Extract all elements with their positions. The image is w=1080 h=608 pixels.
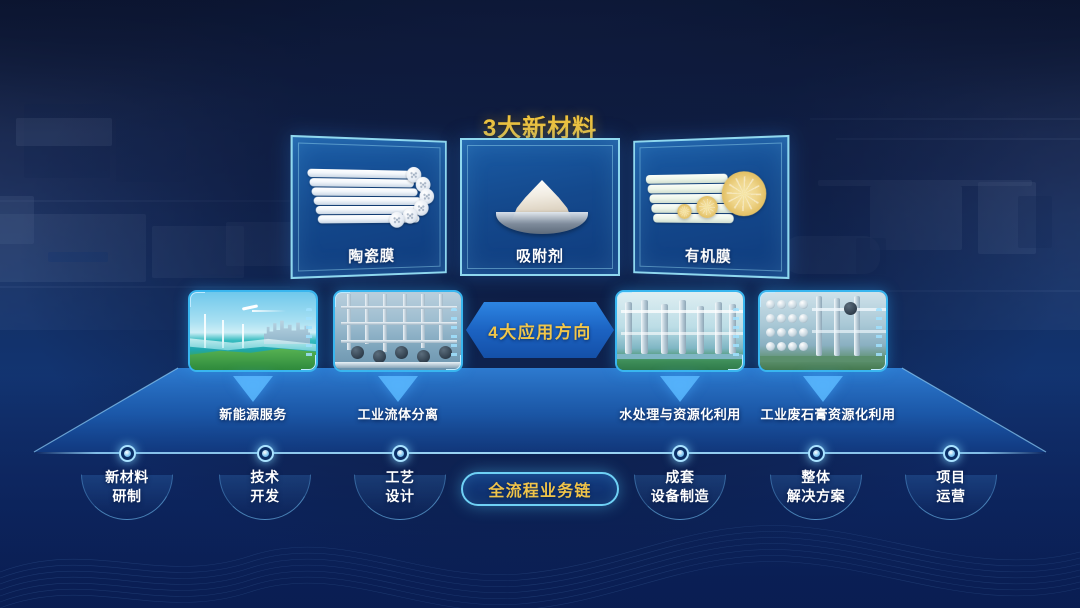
chain-step-3-line1: 工艺 [325,468,475,487]
new-energy-landscape-icon [190,292,316,370]
water-treatment-racks-icon [617,292,743,370]
application-thumb-gypsum[interactable] [758,290,888,372]
application-thumb-water-treatment[interactable] [615,290,745,372]
chain-step-2-line2: 开发 [190,487,340,506]
thumb-corner-accent [616,291,632,307]
background-factory-photo-left [0,0,320,330]
chain-step-4[interactable]: 成套 设备制造 [605,468,755,506]
chain-step-4-line2: 设备制造 [605,487,755,506]
material-label-adsorbent: 吸附剂 [462,245,618,266]
application-label-industrial-fluid: 工业流体分离 [323,404,473,423]
thumb-tick-marks [733,308,739,358]
materials-panel-group: 陶瓷膜 吸附剂 有机膜 [292,138,788,278]
connector-arrow-down [233,376,273,402]
chain-node-2[interactable] [257,445,274,462]
industrial-piping-icon [335,292,461,370]
connector-arrow-down [378,376,418,402]
chain-node-3[interactable] [392,445,409,462]
thumb-tick-marks [306,308,312,358]
chain-step-6-line2: 运营 [876,487,1026,506]
application-label-gypsum: 工业废石膏资源化利用 [748,404,908,423]
application-label-new-energy: 新能源服务 [178,404,328,423]
applications-section-badge: 4大应用方向 [466,302,614,358]
chain-node-4[interactable] [672,445,689,462]
chain-step-1[interactable]: 新材料 研制 [52,468,202,506]
chain-step-5-line2: 解决方案 [741,487,891,506]
background-factory-photo-right [770,0,1080,330]
organic-membrane-spiral-icon [646,169,779,235]
material-panel-organic-membrane[interactable]: 有机膜 [633,135,789,279]
chain-step-4-line1: 成套 [605,468,755,487]
chain-step-6[interactable]: 项目 运营 [876,468,1026,506]
chain-step-5-line1: 整体 [741,468,891,487]
chain-step-2[interactable]: 技术 开发 [190,468,340,506]
chain-step-6-line1: 项目 [876,468,1026,487]
ceramic-membrane-rods-icon [307,167,436,235]
thumb-corner-accent [189,291,205,307]
chain-node-6[interactable] [943,445,960,462]
chain-step-3-line2: 设计 [325,487,475,506]
gypsum-plant-icon [760,292,886,370]
application-label-water-treatment: 水处理与资源化利用 [605,404,755,423]
infographic-canvas: 3大新材料 陶瓷膜 [0,0,1080,608]
business-chain-pill[interactable]: 全流程业务链 [461,472,619,506]
business-chain-line [36,452,1044,454]
wave-decoration [0,498,1080,608]
thumb-corner-accent [759,291,775,307]
chain-step-5[interactable]: 整体 解决方案 [741,468,891,506]
application-thumb-new-energy[interactable] [188,290,318,372]
chain-step-1-line2: 研制 [52,487,202,506]
chain-node-5[interactable] [808,445,825,462]
thumb-tick-marks [451,308,457,358]
application-thumb-industrial-fluid[interactable] [333,290,463,372]
thumb-corner-accent [334,291,350,307]
thumb-tick-marks [876,308,882,358]
chain-node-1[interactable] [119,445,136,462]
applications-badge-label: 4大应用方向 [488,318,591,343]
adsorbent-powder-dish-icon [496,176,588,234]
connector-arrow-down [660,376,700,402]
connector-arrow-down [803,376,843,402]
business-chain-pill-label: 全流程业务链 [488,477,591,501]
material-panel-adsorbent[interactable]: 吸附剂 [460,138,620,276]
chain-step-1-line1: 新材料 [52,468,202,487]
chain-step-2-line1: 技术 [190,468,340,487]
material-panel-ceramic-membrane[interactable]: 陶瓷膜 [291,135,447,279]
chain-step-3[interactable]: 工艺 设计 [325,468,475,506]
